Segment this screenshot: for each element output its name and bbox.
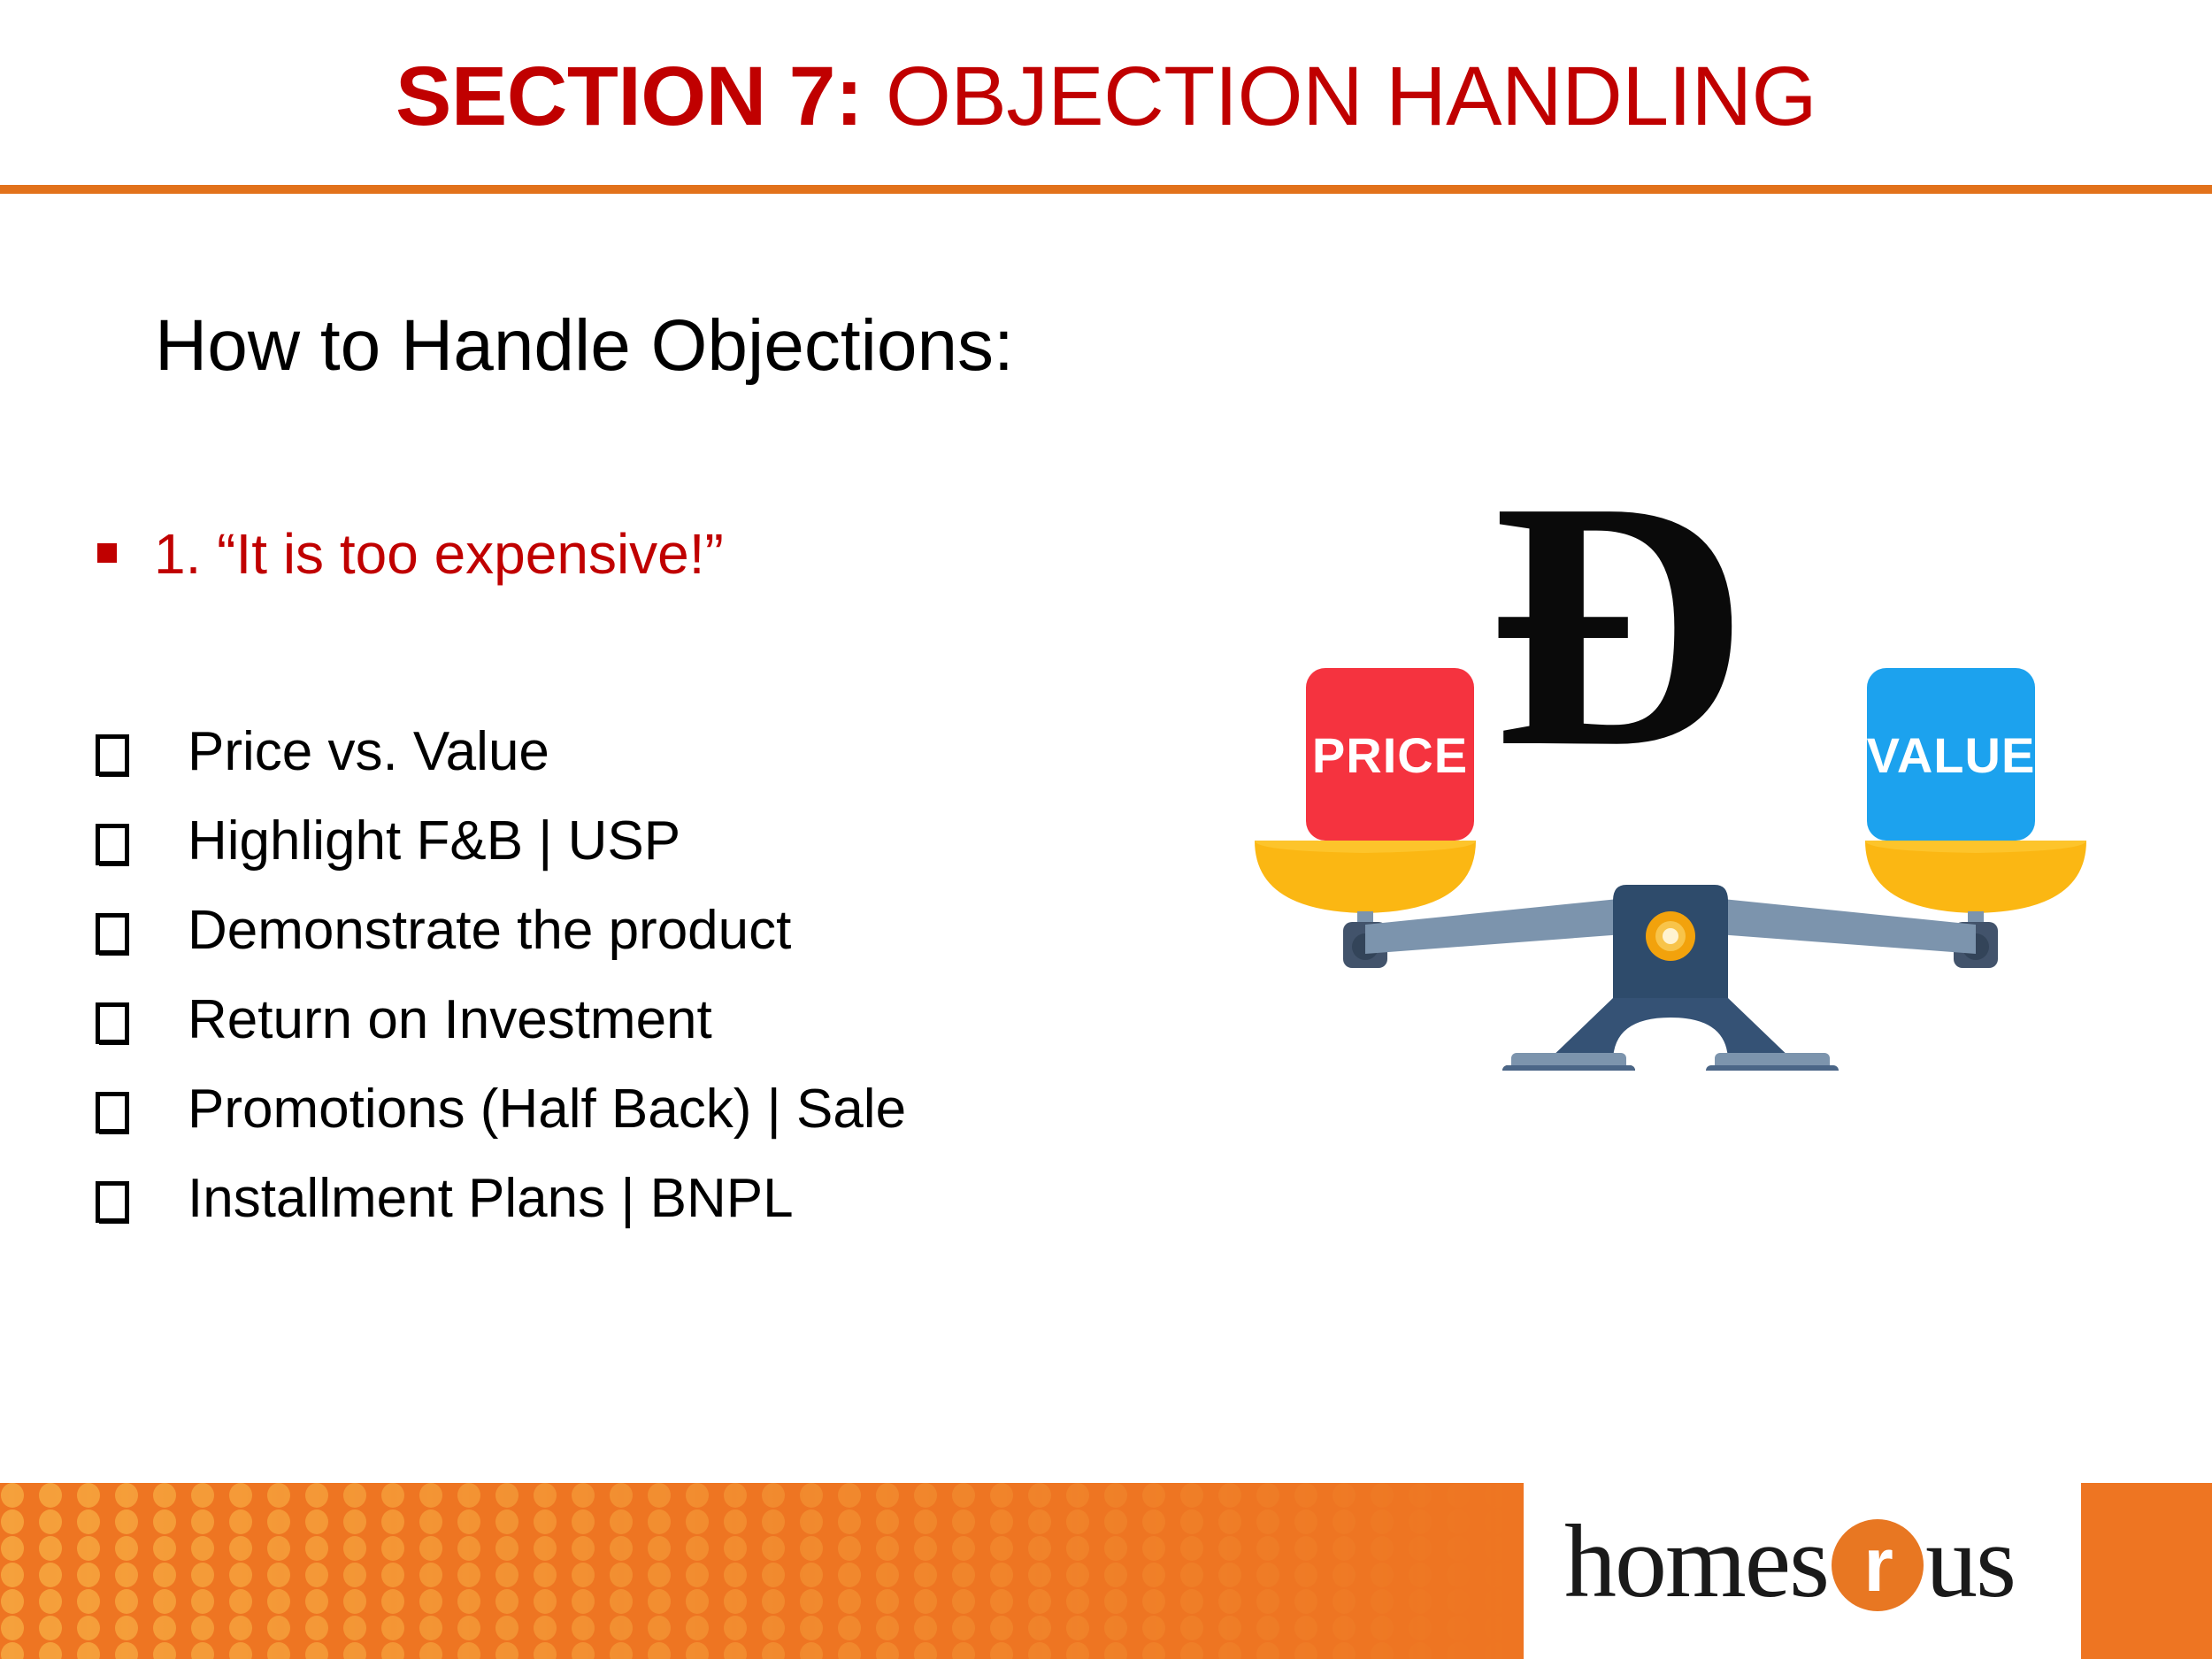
page-title-section: SECTION 7: xyxy=(396,50,863,143)
checkbox-icon xyxy=(96,1002,129,1045)
list-item: Demonstrate the product xyxy=(96,899,906,988)
list-item: Installment Plans | BNPL xyxy=(96,1167,906,1256)
handling-checklist: Price vs. Value Highlight F&B | USP Demo… xyxy=(96,720,906,1256)
section-heading: How to Handle Objections: xyxy=(155,304,1014,388)
list-item: Return on Investment xyxy=(96,988,906,1078)
balance-scale-icon: Đ xyxy=(1246,451,2095,1071)
slide-header: SECTION 7: OBJECTION HANDLING xyxy=(0,0,2212,185)
list-item-label: Installment Plans | BNPL xyxy=(188,1167,794,1231)
list-item: Highlight F&B | USP xyxy=(96,810,906,899)
page-title: SECTION 7: OBJECTION HANDLING xyxy=(0,53,2212,142)
price-card: PRICE xyxy=(1306,668,1474,841)
header-divider-rule xyxy=(0,185,2212,194)
checkbox-icon xyxy=(96,1181,129,1224)
list-item: Price vs. Value xyxy=(96,720,906,810)
halftone-dot-pattern xyxy=(0,1483,1524,1659)
value-card: VALUE xyxy=(1867,668,2036,841)
footer-right-orange-block xyxy=(2081,1483,2212,1659)
checkbox-icon xyxy=(96,913,129,956)
checkbox-icon xyxy=(96,824,129,866)
slide-footer: homes r us xyxy=(0,1483,2212,1659)
objection-text: 1. “It is too expensive!” xyxy=(154,526,724,582)
currency-symbol-icon: Đ xyxy=(1490,451,1746,820)
svg-text:Đ: Đ xyxy=(1490,451,1746,820)
logo-text-after: us xyxy=(1925,1502,2015,1622)
checkbox-icon xyxy=(96,1092,129,1134)
list-item-label: Demonstrate the product xyxy=(188,899,791,963)
footer-orange-bar xyxy=(0,1483,1524,1659)
list-item-label: Return on Investment xyxy=(188,988,712,1052)
list-item-label: Promotions (Half Back) | Sale xyxy=(188,1078,906,1141)
svg-text:VALUE: VALUE xyxy=(1867,727,2036,783)
objection-item: 1. “It is too expensive!” xyxy=(97,526,724,582)
list-item-label: Price vs. Value xyxy=(188,720,549,784)
logo-r-badge-icon: r xyxy=(1832,1519,1924,1611)
svg-text:PRICE: PRICE xyxy=(1312,727,1468,783)
checkbox-icon xyxy=(96,734,129,777)
page-title-topic: OBJECTION HANDLING xyxy=(863,50,1816,143)
list-item: Promotions (Half Back) | Sale xyxy=(96,1078,906,1167)
logo-text-before: homes xyxy=(1564,1502,1828,1622)
square-bullet-icon xyxy=(97,543,117,563)
list-item-label: Highlight F&B | USP xyxy=(188,810,680,873)
price-value-balance-image: Đ xyxy=(1246,451,2095,1071)
brand-logo: homes r us xyxy=(1564,1504,2015,1619)
